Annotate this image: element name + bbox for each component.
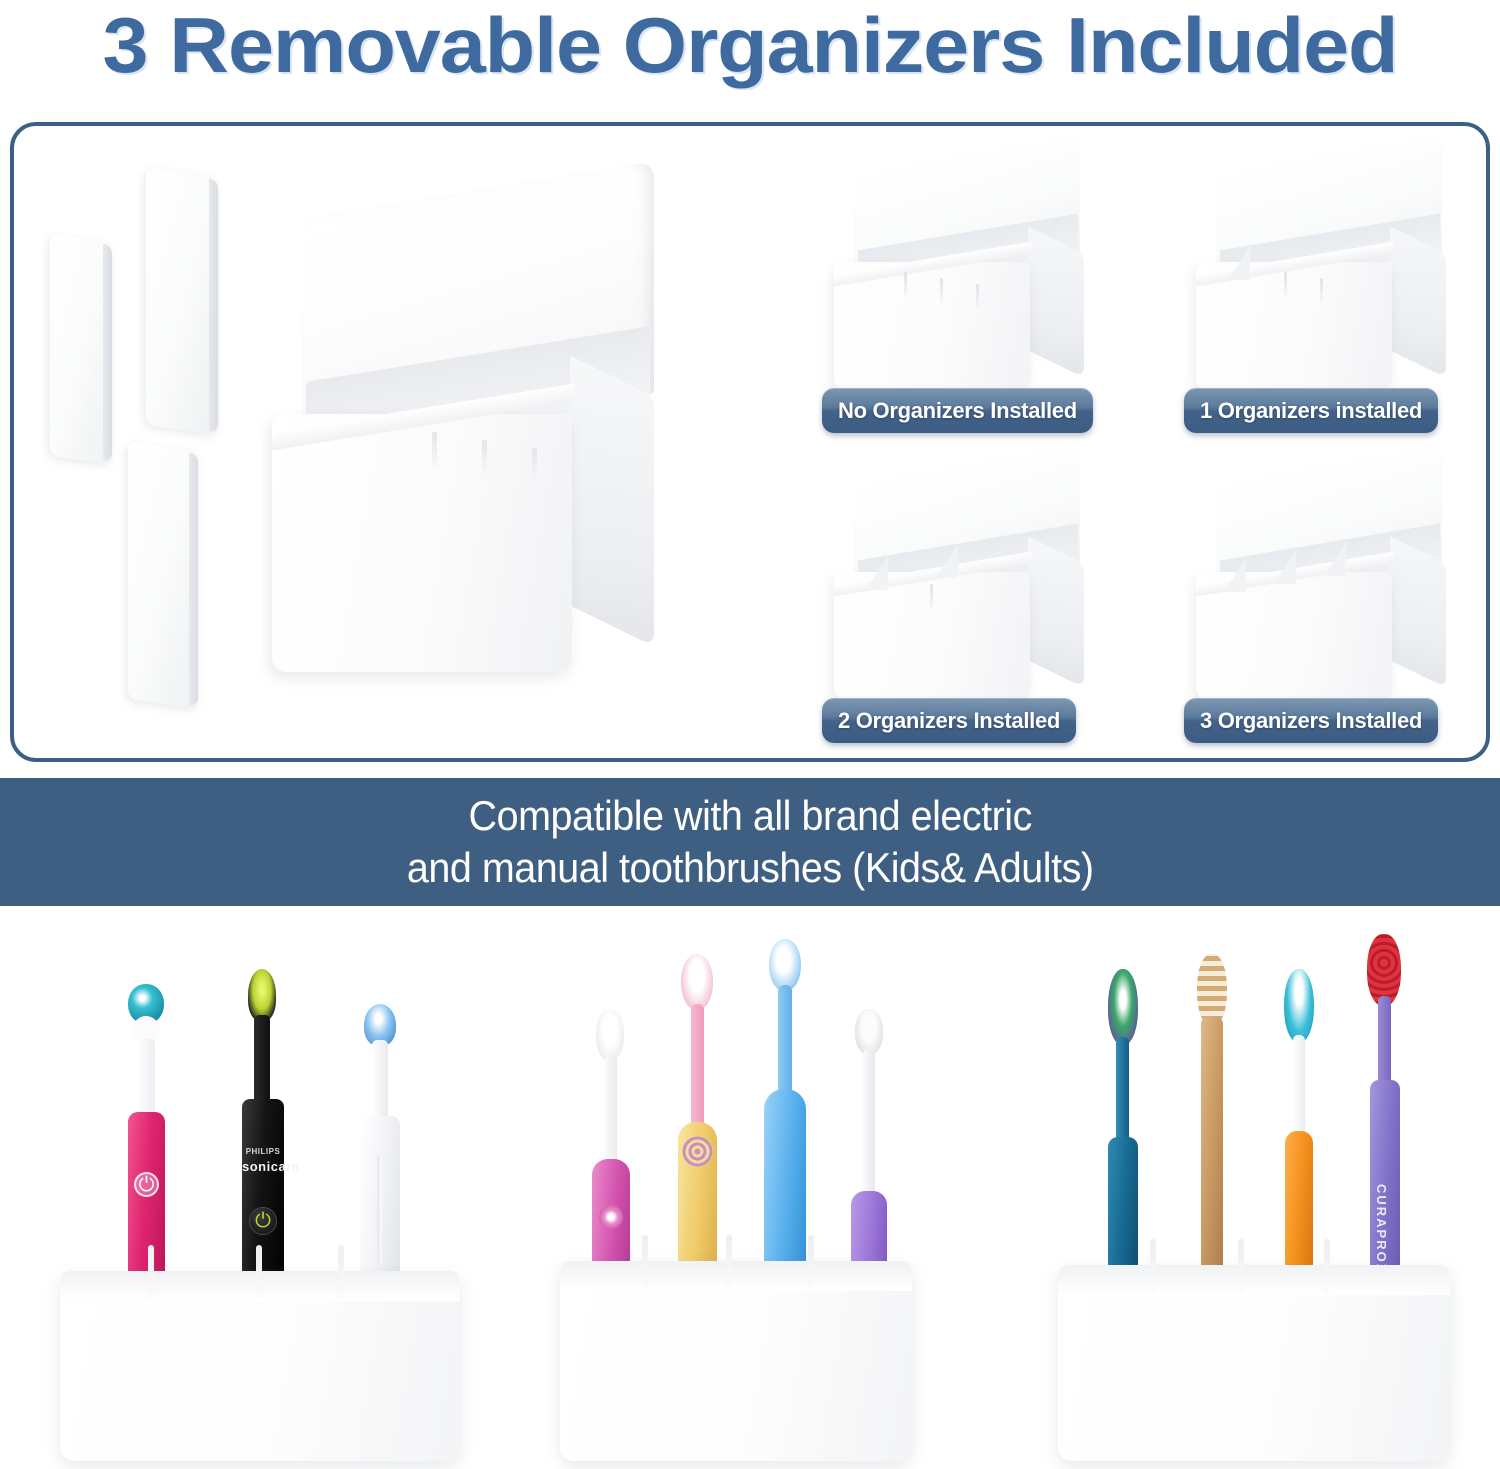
variant-slot-mark-1: [904, 272, 907, 298]
variant-three-organizers: 3 Organizers Installed: [1166, 458, 1466, 748]
variant-slot-mark-1: [1284, 272, 1287, 298]
purple-kids-toothbrush: [842, 1009, 896, 1299]
variant-slot-mark-3: [976, 284, 979, 310]
pink-electric-toothbrush: ⏻: [112, 984, 174, 1314]
divider-plate-2: [146, 167, 218, 435]
orange-white-manual-toothbrush: [1272, 969, 1326, 1299]
holder-slot-1: [148, 1245, 154, 1299]
variant-right-side: [1390, 226, 1446, 377]
variant-slot-mark-2: [1320, 278, 1323, 304]
page-title: 3 Removable Organizers Included: [0, 2, 1500, 88]
variant-label-one-organizer: 1 Organizers installed: [1184, 388, 1438, 433]
holder-slot-2: [726, 1235, 732, 1289]
holder-slot-3: [532, 448, 537, 483]
brush-bristles: [248, 969, 276, 1021]
variant-label-three-organizers: 3 Organizers Installed: [1184, 698, 1438, 743]
divider-plate-3: [128, 441, 198, 709]
brush-neck: [1293, 1035, 1305, 1139]
photo-electric-toothbrushes: ⏻ PHILIPS sonicare ⏻: [60, 906, 480, 1469]
brush-bristles: [681, 954, 713, 1010]
sonicare-brand-label: sonicare: [242, 1159, 284, 1174]
brush-neck: [1378, 996, 1391, 1088]
installed-divider-1: [866, 556, 888, 590]
variant-holder-0: [818, 154, 1090, 364]
installed-divider-2: [1274, 550, 1296, 584]
brush-bristles: [1108, 969, 1138, 1045]
variant-label-two-organizers: 2 Organizers Installed: [822, 698, 1076, 743]
power-button-icon: ⏻: [249, 1207, 277, 1235]
holder-slot-3: [338, 1245, 344, 1299]
brush-neck: [136, 1039, 155, 1119]
variant-slot-mark-2: [940, 278, 943, 304]
variant-right-side: [1028, 536, 1084, 687]
product-infographic: 3 Removable Organizers Included: [0, 0, 1500, 1469]
brush-bristles: [769, 939, 801, 991]
product-photo-strip: ⏻ PHILIPS sonicare ⏻: [0, 906, 1500, 1469]
photo-kids-toothbrushes: [560, 906, 920, 1469]
organizers-card: No Organizers Installed 1 Organizers ins…: [10, 122, 1490, 762]
holder-slot-1: [1150, 1239, 1156, 1293]
divider-plate-1: [50, 234, 112, 465]
holder-slot-1: [642, 1235, 648, 1289]
holder-slot-2: [256, 1245, 262, 1299]
banner-text: Compatible with all brand electric and m…: [407, 790, 1094, 894]
brush-bristles: [596, 1009, 624, 1061]
installed-divider-2: [936, 544, 958, 578]
bamboo-manual-toothbrush: [1186, 954, 1238, 1299]
holder-top-lip: [1058, 1265, 1450, 1295]
pink-kids-toothbrush: [582, 1009, 638, 1299]
yellow-pink-kids-toothbrush: [668, 954, 726, 1299]
variant-right-side: [1028, 226, 1084, 377]
holder-right-side: [570, 356, 654, 647]
holder-slot-3: [808, 1235, 814, 1289]
photo-manual-toothbrushes: CURAPROX: [1058, 906, 1458, 1469]
variant-holder-1: [1180, 154, 1452, 364]
philips-brand-label: PHILIPS: [242, 1147, 284, 1156]
variant-no-organizers: No Organizers Installed: [804, 148, 1104, 438]
curaprox-brand-label: CURAPROX: [1374, 1184, 1389, 1274]
variant-right-side: [1390, 536, 1446, 687]
grip-ring-icon: [599, 1205, 623, 1229]
holder-slot-2: [482, 440, 487, 475]
white-electric-toothbrush: [348, 1004, 412, 1314]
holder-top-lip: [560, 1261, 912, 1291]
variant-two-organizers: 2 Organizers Installed: [804, 458, 1104, 748]
toothbrush-holder: [560, 1261, 912, 1461]
brush-neck: [863, 1049, 875, 1197]
black-sonicare-toothbrush: PHILIPS sonicare ⏻: [228, 969, 298, 1314]
banner-line-2: and manual toothbrushes (Kids& Adults): [407, 842, 1094, 894]
banner-line-1: Compatible with all brand electric: [407, 790, 1094, 842]
variant-label-no-organizers: No Organizers Installed: [822, 388, 1093, 433]
holder-slot-2: [1238, 1239, 1244, 1293]
variant-holder-2: [818, 464, 1090, 674]
brush-neck: [254, 1015, 270, 1107]
brush-neck: [1116, 1037, 1129, 1145]
handle-groove: [377, 1154, 382, 1264]
brush-bristles: [1284, 969, 1314, 1043]
compatibility-banner: Compatible with all brand electric and m…: [0, 778, 1500, 906]
brush-neck: [372, 1040, 388, 1122]
holder-front-face: [272, 414, 572, 672]
brush-neck: [691, 1004, 704, 1129]
purple-curaprox-toothbrush: CURAPROX: [1356, 934, 1412, 1299]
installed-divider-1: [1224, 558, 1246, 592]
installed-divider-1: [1228, 246, 1250, 280]
brush-neck: [605, 1055, 617, 1167]
variant-slot-mark-1: [930, 584, 933, 610]
variant-holder-3: [1180, 464, 1452, 674]
toothbrush-holder: [60, 1271, 460, 1461]
toothbrush-holder: [1058, 1265, 1450, 1461]
holder-slot-3: [1324, 1239, 1330, 1293]
installed-divider-3: [1324, 542, 1346, 576]
power-button-icon: ⏻: [134, 1172, 159, 1197]
variant-one-organizer: 1 Organizers installed: [1166, 148, 1466, 438]
brush-handle: [1201, 1016, 1223, 1299]
holder-slot-1: [432, 432, 437, 467]
spiral-grip-icon: [682, 1136, 713, 1167]
brush-neck: [778, 985, 792, 1095]
main-holder: [244, 186, 664, 686]
blue-kids-toothbrush: [756, 939, 814, 1299]
teal-manual-toothbrush: [1096, 969, 1148, 1299]
